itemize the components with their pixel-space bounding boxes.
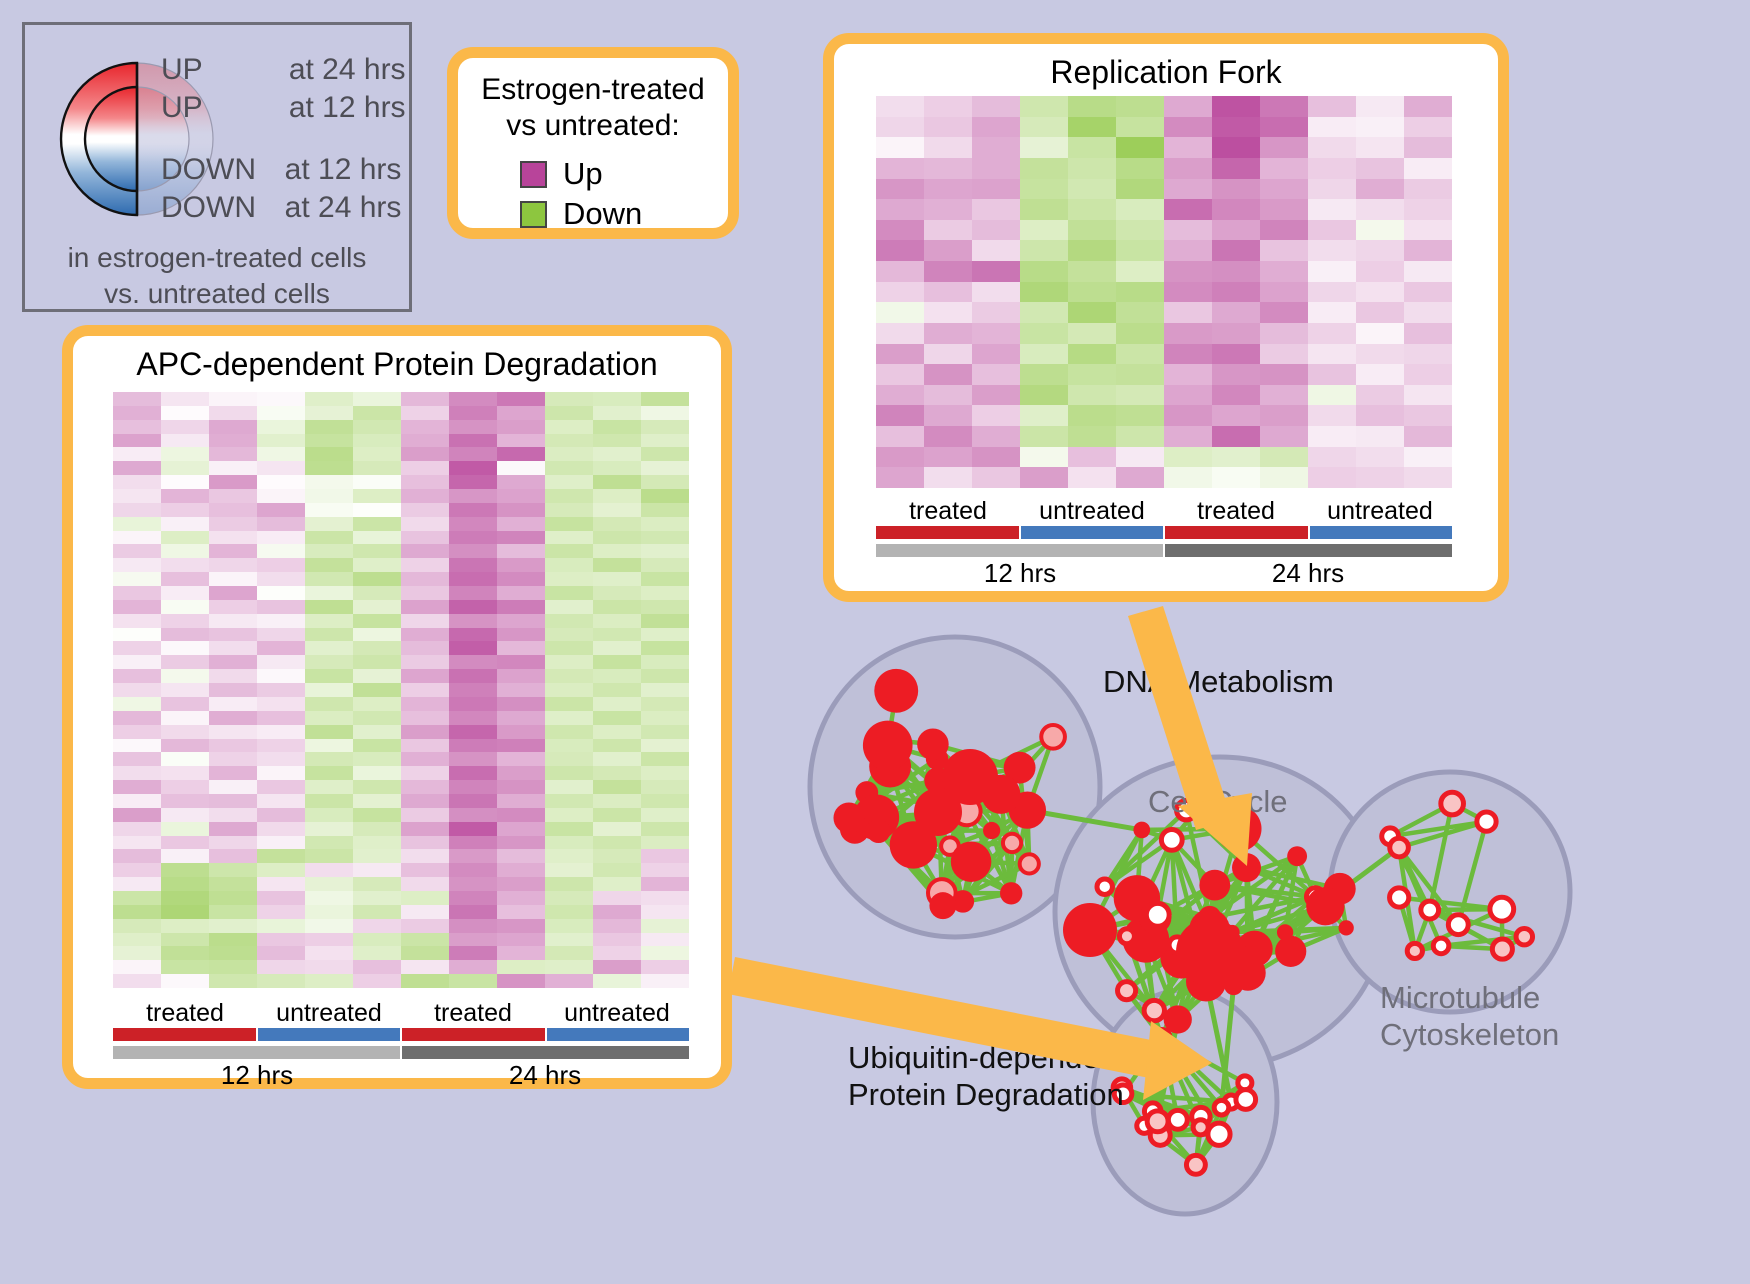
heatmap-cell: [545, 711, 593, 725]
heatmap-cell: [353, 586, 401, 600]
network-node[interactable]: [951, 841, 992, 882]
heatmap-cell: [353, 392, 401, 406]
heatmap-cell: [1116, 467, 1164, 488]
network-node[interactable]: [1118, 982, 1136, 1000]
heatmap-cell: [545, 919, 593, 933]
heatmap-cell: [401, 669, 449, 683]
heatmap-cell: [209, 461, 257, 475]
heatmap-cell: [924, 405, 972, 426]
heatmap-cell: [1164, 199, 1212, 220]
heatmap-cell: [353, 974, 401, 988]
heatmap-cell: [497, 752, 545, 766]
network-node[interactable]: [917, 728, 949, 760]
network-node[interactable]: [1176, 918, 1244, 986]
heatmap-cell: [257, 836, 305, 850]
heatmap-cell: [1212, 323, 1260, 344]
heatmap-cell: [924, 385, 972, 406]
heatmap-cell: [161, 808, 209, 822]
heatmap-cell: [113, 780, 161, 794]
heatmap-cell: [972, 158, 1020, 179]
heatmap-cell: [113, 475, 161, 489]
group-label: treated: [1164, 496, 1308, 526]
network-node[interactable]: [1186, 1155, 1205, 1174]
heatmap-cell: [1068, 220, 1116, 241]
heatmap-cell: [497, 447, 545, 461]
heatmap-cell: [497, 628, 545, 642]
heatmap-cell: [209, 683, 257, 697]
heatmap-cell: [209, 572, 257, 586]
heatmap-cell: [876, 220, 924, 241]
network-node[interactable]: [1000, 882, 1022, 904]
heatmap-cell: [161, 711, 209, 725]
updown-title-line2: vs untreated:: [458, 108, 728, 144]
heatmap-cell: [449, 960, 497, 974]
heatmap-cell: [1356, 220, 1404, 241]
heatmap-cell: [257, 946, 305, 960]
heatmap-cell: [924, 261, 972, 282]
heatmap-cell: [1020, 240, 1068, 261]
group-label: untreated: [545, 998, 689, 1028]
time-colorbar-segment: [876, 544, 1165, 557]
heatmap-cell: [257, 919, 305, 933]
heatmap-cell: [305, 475, 353, 489]
network-node[interactable]: [1390, 888, 1409, 907]
network-node[interactable]: [1199, 870, 1230, 901]
heatmap-cell: [209, 849, 257, 863]
heatmap-cell: [1308, 405, 1356, 426]
heatmap-cell: [305, 669, 353, 683]
heatmap-cell: [449, 406, 497, 420]
heatmap-cell: [401, 933, 449, 947]
heatmap-cell: [1356, 158, 1404, 179]
heatmap-cell: [353, 628, 401, 642]
network-node[interactable]: [1041, 725, 1065, 749]
heatmap-cell: [401, 766, 449, 780]
heatmap-cell: [593, 766, 641, 780]
heatmap-cell: [593, 780, 641, 794]
heatmap-cell: [1308, 426, 1356, 447]
network-node[interactable]: [1421, 901, 1439, 919]
heatmap-cell: [257, 849, 305, 863]
heatmap-cell: [401, 544, 449, 558]
heatmap-cell: [545, 946, 593, 960]
heatmap-cell: [353, 572, 401, 586]
heatmap-cell: [257, 697, 305, 711]
heatmap-cell: [876, 323, 924, 344]
down-label: Down: [563, 196, 642, 232]
pathway-network-diagram: DNA Metabolism Cell Cycle MicrotubuleCyt…: [790, 612, 1740, 1279]
heatmap-cell: [449, 766, 497, 780]
heatmap-cell: [641, 544, 689, 558]
heatmap-cell: [113, 489, 161, 503]
heatmap-cell: [545, 752, 593, 766]
heatmap-cell: [1308, 117, 1356, 138]
heatmap-cell: [972, 117, 1020, 138]
heatmap-cell: [593, 919, 641, 933]
heatmap-cell: [1164, 261, 1212, 282]
heatmap-cell: [401, 711, 449, 725]
heatmap-cell: [257, 614, 305, 628]
heatmap-cell: [401, 739, 449, 753]
heatmap-cell: [641, 836, 689, 850]
heatmap-cell: [401, 822, 449, 836]
network-node[interactable]: [1407, 943, 1422, 958]
heatmap-cell: [876, 261, 924, 282]
heatmap-cell: [209, 655, 257, 669]
network-node[interactable]: [1119, 929, 1134, 944]
heatmap-cell: [876, 447, 924, 468]
heatmap-cell: [113, 544, 161, 558]
group-label: treated: [113, 998, 257, 1028]
heatmap-cell: [545, 683, 593, 697]
heatmap-cell: [497, 822, 545, 836]
heatmap-cell: [449, 849, 497, 863]
network-node[interactable]: [874, 669, 918, 713]
heatmap-cell: [257, 822, 305, 836]
heatmap-cell: [1164, 179, 1212, 200]
heatmap-cell: [305, 614, 353, 628]
heatmap-cell: [353, 739, 401, 753]
heatmap-cell: [1020, 405, 1068, 426]
heatmap-cell: [209, 544, 257, 558]
heatmap-cell: [401, 836, 449, 850]
heatmap-cell: [1404, 220, 1452, 241]
heatmap-cell: [161, 836, 209, 850]
heatmap-cell: [1260, 199, 1308, 220]
network-node[interactable]: [1339, 920, 1354, 935]
network-node[interactable]: [1516, 928, 1532, 944]
heatmap-cell: [497, 489, 545, 503]
heatmap-cell: [161, 558, 209, 572]
heatmap-cell: [113, 891, 161, 905]
heatmap-cell: [1116, 240, 1164, 261]
time-colorbar-segment: [113, 1046, 402, 1059]
heatmap-cell: [1068, 385, 1116, 406]
heatmap-cell: [209, 891, 257, 905]
heatmap-cell: [1260, 426, 1308, 447]
network-node[interactable]: [1208, 1123, 1230, 1145]
heatmap-cell: [1308, 137, 1356, 158]
heatmap-cell: [497, 877, 545, 891]
network-node[interactable]: [833, 802, 864, 833]
heatmap-cell: [401, 974, 449, 988]
heatmap-cell: [1116, 220, 1164, 241]
network-node[interactable]: [1287, 846, 1307, 866]
heatmap-cell: [1308, 344, 1356, 365]
heatmap-cell: [1068, 467, 1116, 488]
heatmap-cell: [1068, 426, 1116, 447]
heatmap-cell: [161, 766, 209, 780]
heatmap-cell: [641, 974, 689, 988]
heatmap-cell: [497, 558, 545, 572]
heatmap-cell: [209, 614, 257, 628]
network-node[interactable]: [866, 819, 890, 843]
network-node[interactable]: [1063, 903, 1117, 957]
heatmap-cell: [305, 933, 353, 947]
heatmap-cell: [209, 877, 257, 891]
heatmap-cell: [161, 475, 209, 489]
heatmap-cell: [593, 586, 641, 600]
heatmap-cell: [257, 752, 305, 766]
network-node[interactable]: [1146, 903, 1169, 926]
heatmap-cell: [161, 600, 209, 614]
heatmap-cell: [161, 877, 209, 891]
heatmap-cell: [545, 558, 593, 572]
network-node[interactable]: [1003, 834, 1021, 852]
heatmap-cell: [209, 960, 257, 974]
heatmap-cell: [353, 531, 401, 545]
heatmap-cell: [924, 117, 972, 138]
heatmap-cell: [972, 96, 1020, 117]
heatmap-cell: [161, 628, 209, 642]
heatmap-cell: [113, 420, 161, 434]
heatmap-cell: [1116, 179, 1164, 200]
heatmap-cell: [401, 600, 449, 614]
heatmap-cell: [401, 655, 449, 669]
heatmap-cell: [353, 725, 401, 739]
heatmap-cell: [972, 302, 1020, 323]
heatmap-cell: [257, 669, 305, 683]
heatmap-cell: [1308, 323, 1356, 344]
heatmap-cell: [1164, 447, 1212, 468]
network-node[interactable]: [1168, 1110, 1187, 1129]
heatmap-cell: [497, 406, 545, 420]
heatmap-cell: [641, 420, 689, 434]
network-node[interactable]: [929, 892, 956, 919]
heatmap-cell: [593, 420, 641, 434]
heatmap-cell: [353, 891, 401, 905]
heatmap-cell: [593, 739, 641, 753]
network-node[interactable]: [1236, 1090, 1256, 1110]
heatmap-cell: [449, 739, 497, 753]
updown-items: Up Down: [458, 154, 728, 234]
heatmap-cell: [876, 282, 924, 303]
heatmap-cell: [1212, 261, 1260, 282]
heatmap-cell: [257, 655, 305, 669]
heatmap-cell: [257, 628, 305, 642]
up-label: Up: [563, 156, 603, 192]
heatmap-cell: [1404, 117, 1452, 138]
time-label: 24 hrs: [401, 1059, 689, 1091]
heatmap-cell: [257, 434, 305, 448]
heatmap-cell: [641, 434, 689, 448]
apc-group-colorbar: [113, 1028, 689, 1041]
heatmap-cell: [593, 572, 641, 586]
heatmap-cell: [257, 461, 305, 475]
network-node[interactable]: [1232, 853, 1261, 882]
heatmap-cell: [401, 461, 449, 475]
network-node[interactable]: [1020, 854, 1039, 873]
network-node[interactable]: [1433, 938, 1449, 954]
time-label: 12 hrs: [876, 557, 1164, 589]
network-node[interactable]: [1154, 1030, 1170, 1046]
figure-canvas: UP at 24 hrs UP at 12 hrs DOWN at 12 hrs…: [0, 0, 1750, 1279]
heatmap-cell: [1356, 405, 1404, 426]
heatmap-cell: [353, 794, 401, 808]
heatmap-cell: [1404, 323, 1452, 344]
heatmap-cell: [1020, 137, 1068, 158]
network-node[interactable]: [1214, 1100, 1229, 1115]
network-node[interactable]: [863, 721, 913, 771]
heatmap-cell: [161, 725, 209, 739]
heatmap-cell: [353, 406, 401, 420]
network-node[interactable]: [1441, 792, 1464, 815]
heatmap-cell: [161, 891, 209, 905]
heatmap-cell: [353, 752, 401, 766]
heatmap-cell: [113, 434, 161, 448]
heatmap-cell: [497, 725, 545, 739]
heatmap-cell: [1116, 137, 1164, 158]
heatmap-cell: [209, 808, 257, 822]
heatmap-cell: [305, 655, 353, 669]
heatmap-cell: [1308, 199, 1356, 220]
network-node[interactable]: [1306, 887, 1344, 925]
heatmap-cell: [401, 905, 449, 919]
heatmap-cell: [257, 739, 305, 753]
heatmap-cell: [1020, 467, 1068, 488]
heatmap-cell: [497, 461, 545, 475]
heatmap-cell: [593, 725, 641, 739]
colorwheel-note-line1: in estrogen-treated cells: [25, 240, 409, 276]
network-node[interactable]: [1490, 897, 1514, 921]
heatmap-cell: [161, 392, 209, 406]
heatmap-cell: [113, 863, 161, 877]
heatmap-cell: [1164, 426, 1212, 447]
colorwheel-row-1: UP at 12 hrs: [161, 93, 406, 123]
heatmap-cell: [1164, 158, 1212, 179]
heatmap-cell: [1068, 323, 1116, 344]
heatmap-cell: [161, 461, 209, 475]
heatmap-cell: [353, 877, 401, 891]
heatmap-cell: [401, 614, 449, 628]
heatmap-cell: [305, 891, 353, 905]
heatmap-cell: [593, 503, 641, 517]
heatmap-cell: [1116, 302, 1164, 323]
heatmap-cell: [545, 531, 593, 545]
heatmap-cell: [113, 752, 161, 766]
heatmap-cell: [641, 517, 689, 531]
network-node[interactable]: [1144, 1000, 1164, 1020]
network-node[interactable]: [1448, 915, 1468, 935]
network-node[interactable]: [1133, 822, 1150, 839]
heatmap-cell: [449, 697, 497, 711]
heatmap-cell: [305, 960, 353, 974]
heatmap-cell: [545, 877, 593, 891]
heatmap-cell: [497, 544, 545, 558]
replication-fork-title: Replication Fork: [834, 52, 1498, 92]
network-node[interactable]: [1161, 829, 1182, 850]
heatmap-cell: [1212, 364, 1260, 385]
network-node[interactable]: [1275, 936, 1306, 967]
heatmap-cell: [876, 302, 924, 323]
heatmap-cell: [545, 905, 593, 919]
heatmap-cell: [449, 808, 497, 822]
heatmap-cell: [161, 974, 209, 988]
heatmap-cell: [497, 711, 545, 725]
heatmap-cell: [593, 669, 641, 683]
group-colorbar-segment: [1165, 526, 1310, 539]
heatmap-cell: [1068, 96, 1116, 117]
heatmap-cell: [593, 558, 641, 572]
heatmap-cell: [401, 919, 449, 933]
heatmap-cell: [1260, 240, 1308, 261]
heatmap-cell: [876, 405, 924, 426]
heatmap-cell: [593, 641, 641, 655]
heatmap-cell: [593, 891, 641, 905]
heatmap-cell: [497, 531, 545, 545]
heatmap-cell: [924, 158, 972, 179]
heatmap-cell: [1260, 282, 1308, 303]
heatmap-cell: [545, 849, 593, 863]
heatmap-cell: [305, 420, 353, 434]
heatmap-cell: [161, 544, 209, 558]
heatmap-cell: [641, 891, 689, 905]
heatmap-cell: [1308, 220, 1356, 241]
heatmap-cell: [1212, 137, 1260, 158]
heatmap-cell: [1068, 447, 1116, 468]
heatmap-cell: [1116, 158, 1164, 179]
heatmap-cell: [545, 933, 593, 947]
heatmap-cell: [641, 586, 689, 600]
heatmap-cell: [353, 836, 401, 850]
colorwheel-note: in estrogen-treated cells vs. untreated …: [25, 240, 409, 312]
heatmap-cell: [1404, 467, 1452, 488]
group-label: treated: [401, 998, 545, 1028]
network-node[interactable]: [983, 822, 1000, 839]
heatmap-cell: [353, 614, 401, 628]
network-label-microtubule-cytoskeleton: MicrotubuleCytoskeleton: [1380, 980, 1559, 1053]
heatmap-cell: [305, 849, 353, 863]
heatmap-cell: [257, 794, 305, 808]
network-node[interactable]: [1097, 879, 1112, 894]
heatmap-cell: [497, 655, 545, 669]
heatmap-cell: [1068, 364, 1116, 385]
group-colorbar-segment: [547, 1028, 690, 1041]
heatmap-cell: [449, 752, 497, 766]
heatmap-cell: [401, 558, 449, 572]
network-node[interactable]: [914, 788, 962, 836]
heatmap-cell: [449, 544, 497, 558]
network-node[interactable]: [1477, 812, 1496, 831]
heatmap-cell: [924, 199, 972, 220]
heatmap-cell: [209, 905, 257, 919]
heatmap-cell: [257, 600, 305, 614]
heatmap-cell: [257, 447, 305, 461]
replication-fork-heatmap: [876, 96, 1452, 488]
heatmap-cell: [113, 946, 161, 960]
network-node[interactable]: [1492, 939, 1512, 959]
heatmap-cell: [305, 461, 353, 475]
heatmap-cell: [305, 544, 353, 558]
heatmap-cell: [1356, 117, 1404, 138]
heatmap-cell: [593, 752, 641, 766]
network-node[interactable]: [1390, 838, 1409, 857]
heatmap-cell: [209, 933, 257, 947]
heatmap-cell: [113, 905, 161, 919]
heatmap-cell: [1404, 385, 1452, 406]
heatmap-cell: [972, 344, 1020, 365]
heatmap-cell: [1356, 323, 1404, 344]
heatmap-cell: [1308, 96, 1356, 117]
heatmap-cell: [353, 461, 401, 475]
heatmap-cell: [401, 946, 449, 960]
heatmap-cell: [1260, 117, 1308, 138]
heatmap-cell: [161, 822, 209, 836]
network-node[interactable]: [1147, 1111, 1168, 1132]
heatmap-cell: [401, 531, 449, 545]
heatmap-cell: [1308, 302, 1356, 323]
apc-title: APC-dependent Protein Degradation: [73, 344, 721, 384]
